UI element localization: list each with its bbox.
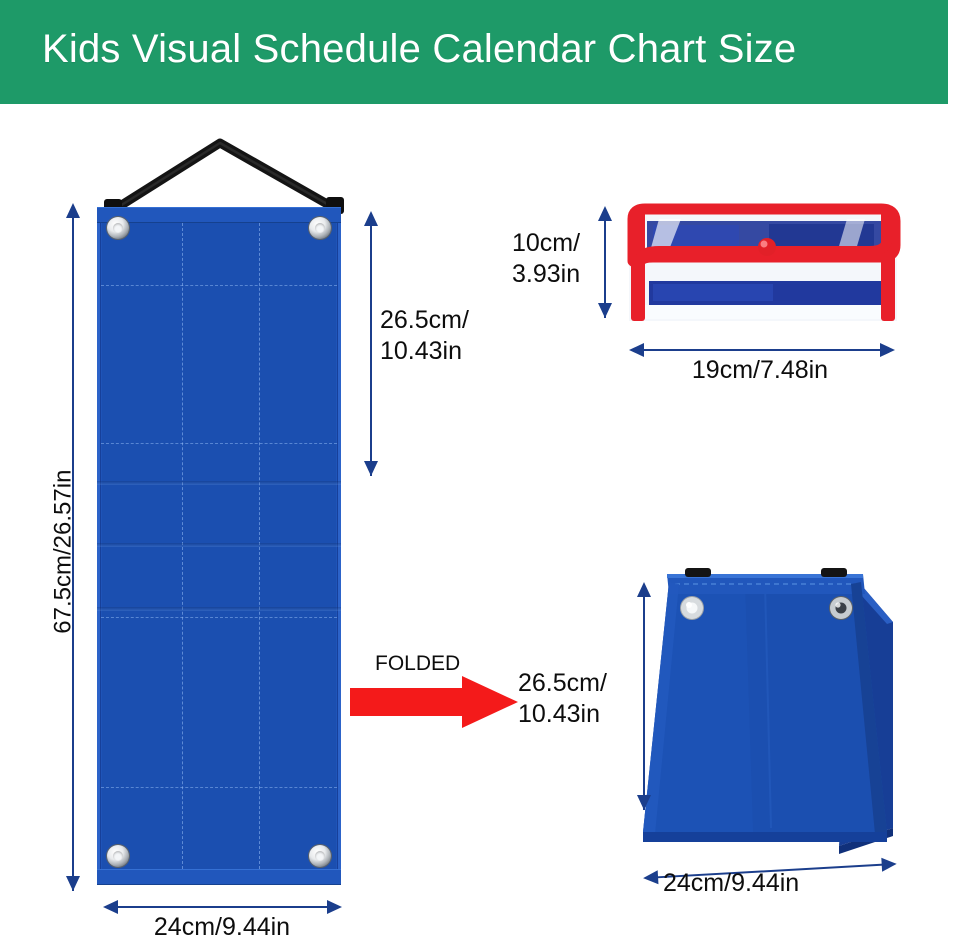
- fold-crease: [97, 607, 341, 611]
- arrowhead-down-icon: [637, 795, 651, 810]
- folded-height-dimension-line: [643, 584, 645, 810]
- pocket-divider-horizontal: [101, 443, 337, 444]
- chart-top-binding: [97, 207, 341, 223]
- grommet-icon: [107, 217, 129, 239]
- pouch-width-label: 19cm/7.48in: [632, 355, 888, 386]
- pocket-divider-horizontal: [101, 617, 337, 618]
- hanger-strap-icon: [90, 137, 360, 217]
- pouch-width-dimension-line: [634, 349, 886, 351]
- unfolded-hanging-chart: [97, 207, 341, 885]
- chart-width-label: 24cm/9.44in: [107, 912, 337, 942]
- chart-pocket-height-dimension-line: [370, 213, 372, 476]
- arrowhead-up-icon: [66, 203, 80, 218]
- arrowhead-up-icon: [598, 206, 612, 221]
- folded-height-label: 26.5cm/ 10.43in: [518, 668, 638, 729]
- arrowhead-down-icon: [364, 461, 378, 476]
- pocket-divider-horizontal: [101, 285, 337, 286]
- grommet-icon: [309, 217, 331, 239]
- fold-crease: [97, 543, 341, 547]
- fold-crease: [97, 481, 341, 485]
- folded-tent-chart: [625, 560, 910, 860]
- grommet-icon: [107, 845, 129, 867]
- page-title: Kids Visual Schedule Calendar Chart Size: [42, 27, 796, 72]
- grommet-icon: [829, 596, 853, 620]
- header-banner: Kids Visual Schedule Calendar Chart Size: [0, 0, 948, 104]
- chart-bottom-binding: [97, 869, 341, 885]
- folded-annotation-label: FOLDED: [375, 652, 460, 676]
- arrowhead-down-icon: [598, 303, 612, 318]
- arrowhead-up-icon: [364, 211, 378, 226]
- grommet-icon: [309, 845, 331, 867]
- chart-height-label: 67.5cm/26.57in: [48, 427, 77, 677]
- pouch-height-dimension-line: [604, 208, 606, 318]
- pocket-divider-horizontal: [101, 787, 337, 788]
- right-arrow-icon: [350, 676, 520, 728]
- clear-vinyl-pouch: [619, 199, 909, 339]
- arrowhead-down-icon: [66, 876, 80, 891]
- infographic-canvas: Kids Visual Schedule Calendar Chart Size: [0, 0, 960, 942]
- arrowhead-left-icon: [643, 870, 659, 885]
- chart-pocket-height-label: 26.5cm/ 10.43in: [380, 305, 510, 366]
- chart-width-dimension-line: [108, 906, 333, 908]
- arrowhead-up-icon: [637, 582, 651, 597]
- pouch-height-label: 10cm/ 3.93in: [512, 228, 604, 289]
- grommet-icon: [680, 596, 704, 620]
- folded-width-label: 24cm/9.44in: [663, 868, 893, 899]
